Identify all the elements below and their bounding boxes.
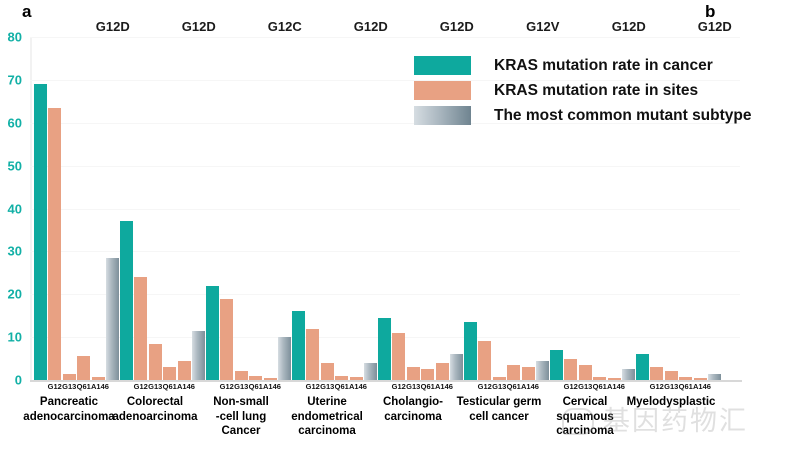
bar-slot: G12D	[106, 37, 121, 380]
bar-site-rate-g12[interactable]	[392, 333, 405, 380]
y-tick-label: 40	[0, 202, 22, 215]
subtype-annotation: G12C	[268, 20, 302, 33]
bar-cancer-rate[interactable]	[636, 354, 649, 380]
bar-subtype[interactable]	[192, 331, 205, 380]
bar-group-bars: G12D	[33, 37, 120, 380]
subtype-annotation: G12D	[96, 20, 130, 33]
site-tick-label: G13	[234, 383, 249, 391]
category-label: Pancreatic adenocarcinoma	[19, 395, 119, 424]
bar-group-bars: G12D	[291, 37, 378, 380]
bar-site-rate-g12[interactable]	[48, 108, 61, 380]
bar-site-rate-q61[interactable]	[507, 365, 520, 380]
site-tick-label: Q61	[77, 383, 92, 391]
bar-slot	[33, 37, 48, 380]
bar-subtype[interactable]	[106, 258, 119, 380]
bar-slot	[220, 37, 235, 380]
y-tick-label: 50	[0, 159, 22, 172]
legend-swatch-sites	[414, 81, 471, 100]
bar-site-rate-q61[interactable]	[679, 377, 692, 380]
bar-site-rate-g12[interactable]	[478, 341, 491, 380]
site-tick-label: G13	[148, 383, 163, 391]
site-tick-label: G13	[62, 383, 77, 391]
bar-site-rate-g12[interactable]	[134, 277, 147, 380]
bar-slot	[91, 37, 106, 380]
y-axis	[30, 37, 32, 382]
bar-slot	[335, 37, 350, 380]
legend-label: The most common mutant subtype	[494, 108, 752, 124]
bar-site-rate-q61[interactable]	[163, 367, 176, 380]
bar-subtype[interactable]	[278, 337, 291, 380]
legend-label: KRAS mutation rate in sites	[494, 83, 698, 99]
bar-slot	[306, 37, 321, 380]
legend-item[interactable]: KRAS mutation rate in sites	[414, 81, 752, 100]
category-label: Cholangio- carcinoma	[363, 395, 463, 424]
bar-slot	[134, 37, 149, 380]
site-tick-label: G12	[48, 383, 63, 391]
bar-cancer-rate[interactable]	[464, 322, 477, 380]
y-tick-label: 60	[0, 116, 22, 129]
site-tick-label: Q61	[249, 383, 264, 391]
site-tick-label: G13	[578, 383, 593, 391]
bar-site-rate-g12[interactable]	[564, 359, 577, 380]
category-label: Colorectal adenoarcinoma	[105, 395, 205, 424]
bar-site-rate-q61[interactable]	[335, 376, 348, 380]
legend-item[interactable]: The most common mutant subtype	[414, 106, 752, 125]
legend-swatch-cancer	[414, 56, 471, 75]
bar-site-rate-a146[interactable]	[92, 377, 105, 380]
site-tick-label: Q61	[593, 383, 608, 391]
bar-site-rate-g13[interactable]	[665, 371, 678, 380]
bar-slot	[377, 37, 392, 380]
bar-subtype[interactable]	[536, 361, 549, 380]
y-tick-label: 80	[0, 31, 22, 44]
site-tick-label: G12	[134, 383, 149, 391]
bar-cancer-rate[interactable]	[550, 350, 563, 380]
bar-site-rate-a146[interactable]	[350, 377, 363, 380]
site-tick-label: G12	[392, 383, 407, 391]
bar-slot	[148, 37, 163, 380]
bar-slot	[48, 37, 63, 380]
bar-slot	[177, 37, 192, 380]
site-tick-label: G12	[220, 383, 235, 391]
legend-label: KRAS mutation rate in cancer	[494, 58, 713, 74]
subtype-annotation: G12V	[526, 20, 559, 33]
legend-item[interactable]: KRAS mutation rate in cancer	[414, 56, 752, 75]
bar-cancer-rate[interactable]	[120, 221, 133, 380]
bar-site-rate-g13[interactable]	[321, 363, 334, 380]
site-tick-label: G12	[306, 383, 321, 391]
bar-site-rate-a146[interactable]	[178, 361, 191, 380]
site-tick-label: G13	[664, 383, 679, 391]
bar-cancer-rate[interactable]	[292, 311, 305, 380]
bar-slot: G12C	[278, 37, 293, 380]
bar-slot	[263, 37, 278, 380]
subtype-annotation: G12D	[612, 20, 646, 33]
site-tick-label: Q61	[507, 383, 522, 391]
site-tick-label: G13	[492, 383, 507, 391]
site-tick-label: G12	[564, 383, 579, 391]
bar-group-bars: G12D	[119, 37, 206, 380]
bar-site-rate-g12[interactable]	[306, 329, 319, 380]
category-label: Testicular germ cell cancer	[449, 395, 549, 424]
bar-site-rate-g13[interactable]	[235, 371, 248, 380]
bar-site-rate-a146[interactable]	[608, 378, 621, 380]
y-tick-label: 70	[0, 73, 22, 86]
y-tick-label: 30	[0, 245, 22, 258]
bar-site-rate-a146[interactable]	[264, 378, 277, 380]
bar-group-bars: G12C	[205, 37, 292, 380]
bar-slot	[234, 37, 249, 380]
bar-subtype[interactable]	[364, 363, 377, 380]
bar-site-rate-a146[interactable]	[522, 367, 535, 380]
bar-slot	[291, 37, 306, 380]
bar-slot: G12D	[192, 37, 207, 380]
bar-site-rate-g12[interactable]	[220, 299, 233, 380]
bar-slot	[119, 37, 134, 380]
site-tick-label: G12	[650, 383, 665, 391]
bar-site-rate-g13[interactable]	[63, 374, 76, 380]
bar-site-rate-g12[interactable]	[650, 367, 663, 380]
bar-site-rate-a146[interactable]	[436, 363, 449, 380]
bar-cancer-rate[interactable]	[206, 286, 219, 380]
site-tick-label: A146	[91, 383, 106, 391]
bar-site-rate-a146[interactable]	[694, 378, 707, 380]
bar-subtype[interactable]	[450, 354, 463, 380]
bar-slot	[320, 37, 335, 380]
site-tick-label: A146	[349, 383, 364, 391]
category-label: Non-small -cell lung Cancer	[191, 395, 291, 439]
site-tick-label: G13	[406, 383, 421, 391]
category-label: Cervical squamous carcinoma	[535, 395, 635, 439]
bar-slot: G12D	[364, 37, 379, 380]
site-tick-label: A146	[435, 383, 450, 391]
bar-cancer-rate[interactable]	[378, 318, 391, 380]
bar-slot	[77, 37, 92, 380]
site-tick-label: A146	[521, 383, 536, 391]
bar-site-rate-q61[interactable]	[249, 376, 262, 380]
chart-legend: KRAS mutation rate in cancerKRAS mutatio…	[414, 56, 752, 131]
bar-site-rate-q61[interactable]	[593, 377, 606, 380]
subtype-annotation: G12D	[698, 20, 732, 33]
y-tick-label: 10	[0, 331, 22, 344]
y-tick-label: 20	[0, 288, 22, 301]
bar-slot	[249, 37, 264, 380]
site-tick-label: A146	[177, 383, 192, 391]
bar-slot	[205, 37, 220, 380]
site-tick-label: G12	[478, 383, 493, 391]
subtype-annotation: G12D	[440, 20, 474, 33]
y-tick-label: 0	[0, 374, 22, 387]
site-tick-label: Q61	[335, 383, 350, 391]
category-label: Myelodysplastic	[621, 395, 721, 410]
bar-subtype[interactable]	[622, 369, 635, 380]
bar-slot	[392, 37, 407, 380]
site-tick-label: Q61	[163, 383, 178, 391]
site-tick-label: Q61	[679, 383, 694, 391]
legend-swatch-subtype	[414, 106, 471, 125]
subtype-annotation: G12D	[354, 20, 388, 33]
bar-site-rate-g13[interactable]	[579, 365, 592, 380]
panel-label-a: a	[22, 2, 31, 22]
bar-site-rate-g13[interactable]	[493, 377, 506, 380]
bar-slot	[163, 37, 178, 380]
bar-slot	[349, 37, 364, 380]
bar-subtype[interactable]	[708, 374, 721, 380]
bar-site-rate-q61[interactable]	[77, 356, 90, 380]
subtype-annotation: G12D	[182, 20, 216, 33]
bar-slot	[62, 37, 77, 380]
bar-site-rate-g13[interactable]	[407, 367, 420, 380]
site-tick-label: A146	[263, 383, 278, 391]
site-tick-label: A146	[607, 383, 622, 391]
bar-site-rate-q61[interactable]	[421, 369, 434, 380]
site-tick-label: A146	[693, 383, 708, 391]
site-tick-label: Q61	[421, 383, 436, 391]
category-label: Uterine endometrical carcinoma	[277, 395, 377, 439]
bar-site-rate-g13[interactable]	[149, 344, 162, 380]
site-tick-label: G13	[320, 383, 335, 391]
bar-cancer-rate[interactable]	[34, 84, 47, 380]
